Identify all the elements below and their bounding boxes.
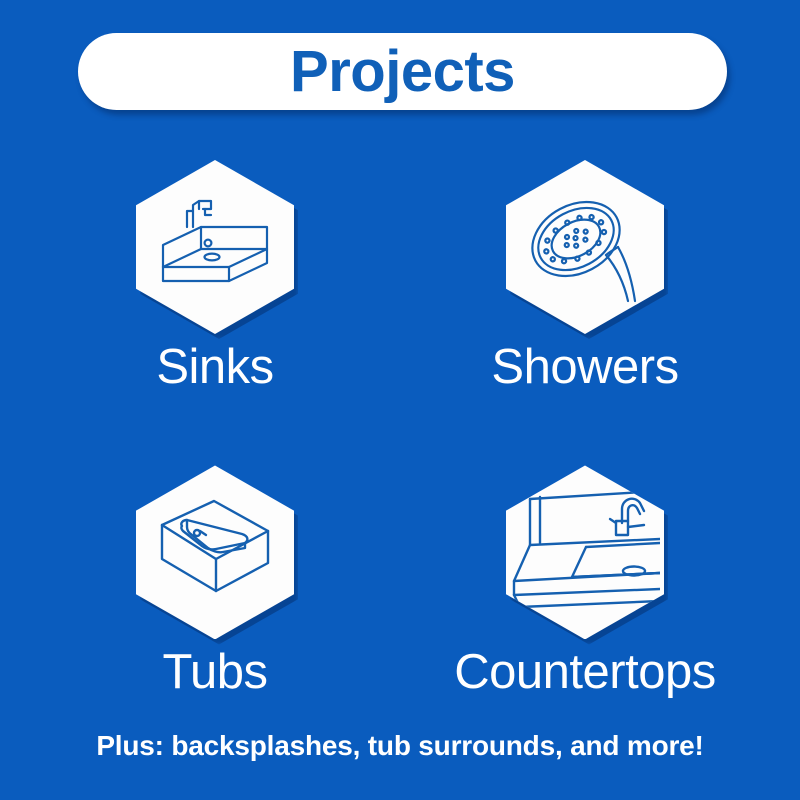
bathtub-icon bbox=[156, 497, 274, 607]
tile-sinks[interactable]: Sinks bbox=[100, 160, 330, 393]
tile-label-showers: Showers bbox=[491, 342, 678, 393]
row-spacer bbox=[0, 393, 800, 465]
hex-badge-countertops bbox=[506, 465, 664, 639]
hex-badge-tubs bbox=[136, 465, 294, 639]
tile-row-1: Sinks bbox=[0, 160, 800, 393]
project-tile-grid: Sinks bbox=[0, 160, 800, 699]
hex-badge-showers bbox=[506, 160, 664, 334]
tile-countertops[interactable]: Countertops bbox=[470, 465, 700, 698]
tile-tubs[interactable]: Tubs bbox=[100, 465, 330, 698]
tile-showers[interactable]: Showers bbox=[470, 160, 700, 393]
tile-label-countertops: Countertops bbox=[454, 647, 715, 698]
sink-icon bbox=[155, 195, 275, 299]
hex-badge-sinks bbox=[136, 160, 294, 334]
title-pill: Projects bbox=[78, 33, 727, 110]
projects-poster: Projects bbox=[0, 0, 800, 800]
tile-row-2: Tubs bbox=[0, 465, 800, 698]
tile-label-sinks: Sinks bbox=[156, 342, 273, 393]
footer-tagline: Plus: backsplashes, tub surrounds, and m… bbox=[0, 730, 800, 762]
page-title: Projects bbox=[290, 43, 515, 101]
shower-head-icon bbox=[524, 191, 646, 303]
countertop-icon bbox=[510, 477, 660, 627]
tile-label-tubs: Tubs bbox=[162, 647, 267, 698]
